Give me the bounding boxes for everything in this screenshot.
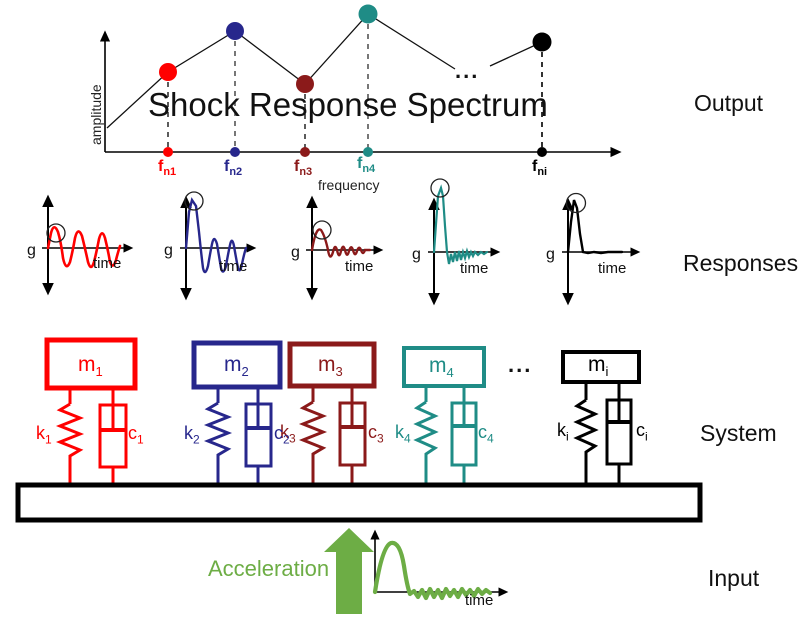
mass-label-3: m3 (318, 353, 343, 379)
tick-label-fn1: fn1 (158, 158, 176, 178)
mass-label-i: mi (588, 353, 608, 379)
srs-point-fn1 (159, 63, 177, 81)
response-g-label-2: g (164, 242, 173, 260)
srs-tick-fn2 (230, 147, 240, 157)
spring-label-1: k1 (36, 423, 52, 447)
response-waveform-2 (180, 192, 248, 290)
spring-label-4: k4 (395, 422, 411, 446)
srs-point-fn4 (359, 5, 378, 24)
x-axis-label: frequency (318, 177, 379, 193)
spring-label-i: ki (557, 420, 569, 444)
acceleration-label: Acceleration (208, 556, 329, 582)
tick-label-fn3: fn3 (294, 158, 312, 178)
damper-label-i: ci (636, 420, 648, 444)
input-waveform (375, 538, 500, 598)
damper-label-4: c4 (478, 422, 494, 446)
response-time-label-2: time (219, 258, 247, 275)
response-waveform-1 (42, 205, 125, 285)
spring-label-2: k2 (184, 423, 200, 447)
srs-tick-fni (537, 147, 547, 157)
response-waveform-3 (306, 206, 375, 290)
srs-tick-fn1 (163, 147, 173, 157)
y-axis-label: amplitude (88, 84, 104, 145)
response-time-label-1: time (93, 255, 121, 272)
srs-ellipsis: ... (455, 58, 479, 84)
system-ellipsis: ... (508, 352, 532, 378)
row-label-output: Output (694, 90, 763, 117)
response-waveform-4 (428, 179, 492, 295)
response-g-label-1: g (27, 242, 36, 260)
acceleration-arrow-icon (324, 528, 374, 614)
srs-droplines (168, 14, 542, 152)
tick-label-fni: fni (532, 158, 547, 178)
tick-label-fn2: fn2 (224, 158, 242, 178)
damper-label-1: c1 (128, 423, 144, 447)
tick-label-fn4: fn4 (357, 155, 375, 175)
base-plate (18, 485, 700, 520)
response-g-label-3: g (291, 244, 300, 262)
row-label-input: Input (708, 565, 759, 592)
mass-label-4: m4 (429, 354, 454, 380)
input-time-label: time (465, 592, 493, 609)
mass-label-1: m1 (78, 353, 103, 379)
row-label-system: System (700, 420, 777, 447)
srs-point-fni (533, 33, 552, 52)
response-waveform-i (562, 194, 632, 296)
response-time-label-i: time (598, 260, 626, 277)
damper-label-2: c2 (274, 423, 290, 447)
srs-point-fn2 (226, 22, 244, 40)
mass-label-2: m2 (224, 353, 249, 379)
page-title: Shock Response Spectrum (148, 86, 548, 124)
row-label-responses: Responses (683, 250, 798, 277)
damper-label-3: c3 (368, 422, 384, 446)
srs-diagram: Shock Response Spectrum amplitude freque… (0, 0, 808, 620)
response-g-label-4: g (412, 246, 421, 264)
srs-tick-fn3 (300, 147, 310, 157)
response-g-label-i: g (546, 246, 555, 264)
response-time-label-3: time (345, 258, 373, 275)
response-time-label-4: time (460, 260, 488, 277)
